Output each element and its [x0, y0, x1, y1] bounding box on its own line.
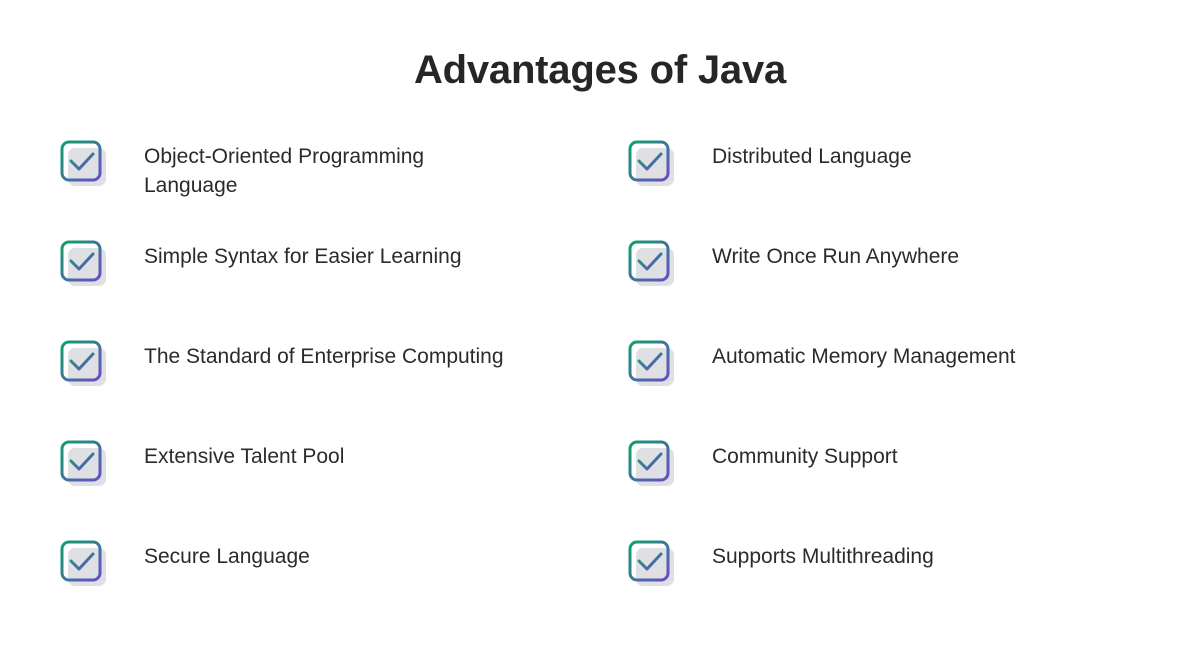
list-item[interactable]: Object-Oriented Programming Language — [58, 136, 584, 236]
list-item-label: Automatic Memory Management — [712, 336, 1015, 371]
checkbox-checked-icon — [626, 238, 678, 290]
slide-root: Advantages of Java — [0, 0, 1200, 659]
checkbox-checked-icon — [626, 438, 678, 490]
list-item[interactable]: Simple Syntax for Easier Learning — [58, 236, 584, 336]
list-item-label: Object-Oriented Programming Language — [144, 136, 504, 200]
list-item[interactable]: Extensive Talent Pool — [58, 436, 584, 536]
list-item[interactable]: Supports Multithreading — [626, 536, 1168, 636]
list-item-label: Community Support — [712, 436, 898, 471]
list-item[interactable]: Automatic Memory Management — [626, 336, 1168, 436]
checkbox-checked-icon — [58, 338, 110, 390]
list-item-label: Secure Language — [144, 536, 310, 571]
list-item-label: Supports Multithreading — [712, 536, 934, 571]
checkbox-checked-icon — [58, 238, 110, 290]
checkbox-checked-icon — [626, 538, 678, 590]
checkbox-checked-icon — [626, 338, 678, 390]
list-item[interactable]: Distributed Language — [626, 136, 1168, 236]
list-item-label: Distributed Language — [712, 136, 912, 171]
advantages-columns: Object-Oriented Programming Language — [0, 136, 1200, 636]
page-title: Advantages of Java — [0, 46, 1200, 94]
list-item-label: Write Once Run Anywhere — [712, 236, 959, 271]
list-item[interactable]: Secure Language — [58, 536, 584, 636]
checkbox-checked-icon — [626, 138, 678, 190]
list-item[interactable]: The Standard of Enterprise Computing — [58, 336, 584, 436]
list-item[interactable]: Community Support — [626, 436, 1168, 536]
list-item-label: The Standard of Enterprise Computing — [144, 336, 504, 371]
checkbox-checked-icon — [58, 438, 110, 490]
advantages-column-left: Object-Oriented Programming Language — [0, 136, 584, 636]
list-item-label: Extensive Talent Pool — [144, 436, 344, 471]
advantages-column-right: Distributed Language — [584, 136, 1168, 636]
list-item-label: Simple Syntax for Easier Learning — [144, 236, 462, 271]
list-item[interactable]: Write Once Run Anywhere — [626, 236, 1168, 336]
checkbox-checked-icon — [58, 138, 110, 190]
checkbox-checked-icon — [58, 538, 110, 590]
